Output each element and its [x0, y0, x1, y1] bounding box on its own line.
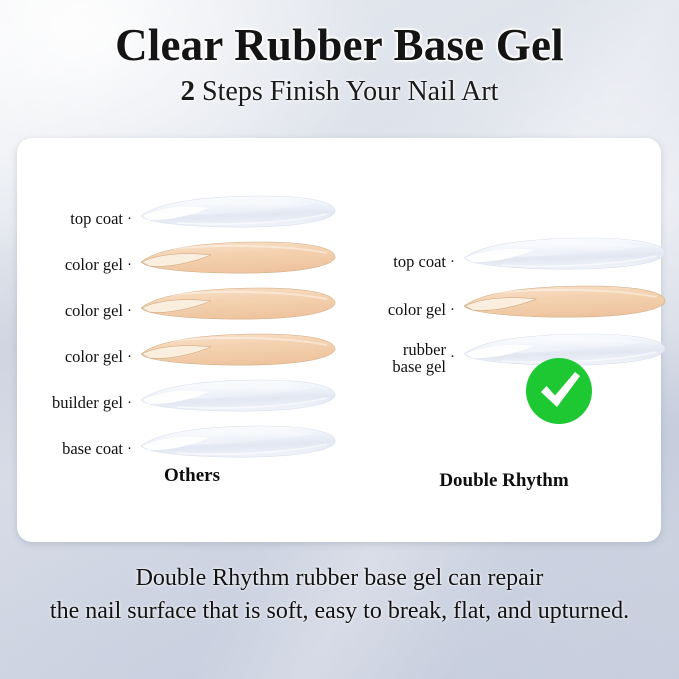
footer-line-2: the nail surface that is soft, easy to b…	[0, 595, 679, 628]
layer-label-top-coat: top coat·	[347, 238, 455, 286]
double-rhythm-label-list: top coat· color gel· rubberbase gel·	[347, 238, 455, 382]
layer-label-rubber-base-gel: rubberbase gel·	[347, 334, 455, 382]
nail-layer-color-gel-1	[137, 242, 337, 288]
bullet-dot-icon: ·	[127, 441, 132, 458]
nail-shape-clear	[460, 238, 667, 270]
page-title: Clear Rubber Base Gel	[0, 22, 679, 69]
nail-layer-top-coat	[137, 196, 337, 242]
nail-layer-color-gel-2	[137, 288, 337, 334]
nail-layer-color-gel-3	[137, 334, 337, 380]
nail-shape-color	[460, 286, 667, 318]
bullet-dot-icon: ·	[450, 302, 455, 319]
poster-canvas: Clear Rubber Base Gel 2 Steps Finish You…	[0, 0, 679, 679]
nail-layer-color-gel	[460, 286, 667, 334]
footer-line-1: Double Rhythm rubber base gel can repair	[0, 562, 679, 595]
layer-label-top-coat: top coat·	[17, 196, 132, 242]
bullet-dot-icon: ·	[127, 211, 132, 228]
layer-label-color-gel-1: color gel·	[17, 242, 132, 288]
bullet-dot-icon: ·	[127, 349, 132, 366]
nail-layer-top-coat	[460, 238, 667, 286]
nail-shape-clear	[137, 426, 337, 458]
others-caption: Others	[17, 465, 367, 487]
layer-label-builder-gel: builder gel·	[17, 380, 132, 426]
bullet-dot-icon: ·	[127, 303, 132, 320]
others-column: top coat· color gel· color gel· color ge…	[17, 138, 367, 542]
bullet-dot-icon: ·	[127, 257, 132, 274]
footer-description: Double Rhythm rubber base gel can repair…	[0, 562, 679, 628]
double-rhythm-column: top coat· color gel· rubberbase gel·	[347, 138, 661, 542]
nail-layer-builder-gel	[137, 380, 337, 426]
nail-shape-clear	[137, 196, 337, 228]
nail-shape-color	[137, 334, 337, 366]
layer-label-color-gel: color gel·	[347, 286, 455, 334]
heading-block: Clear Rubber Base Gel 2 Steps Finish You…	[0, 22, 679, 108]
check-mark-badge	[524, 356, 594, 426]
nail-shape-color	[137, 242, 337, 274]
double-rhythm-caption: Double Rhythm	[347, 470, 661, 492]
layer-label-color-gel-3: color gel·	[17, 334, 132, 380]
bullet-dot-icon: ·	[127, 395, 132, 412]
page-subtitle: 2 Steps Finish Your Nail Art	[0, 76, 679, 108]
subtitle-text: Steps Finish Your Nail Art	[195, 76, 498, 107]
subtitle-step-number: 2	[181, 75, 196, 107]
nail-shape-clear	[137, 380, 337, 412]
nail-shape-color	[137, 288, 337, 320]
bullet-dot-icon: ·	[450, 254, 455, 271]
others-nail-stack	[137, 196, 337, 472]
bullet-dot-icon: ·	[450, 350, 455, 366]
others-label-list: top coat· color gel· color gel· color ge…	[17, 196, 132, 472]
comparison-card: top coat· color gel· color gel· color ge…	[17, 138, 661, 542]
layer-label-color-gel-2: color gel·	[17, 288, 132, 334]
